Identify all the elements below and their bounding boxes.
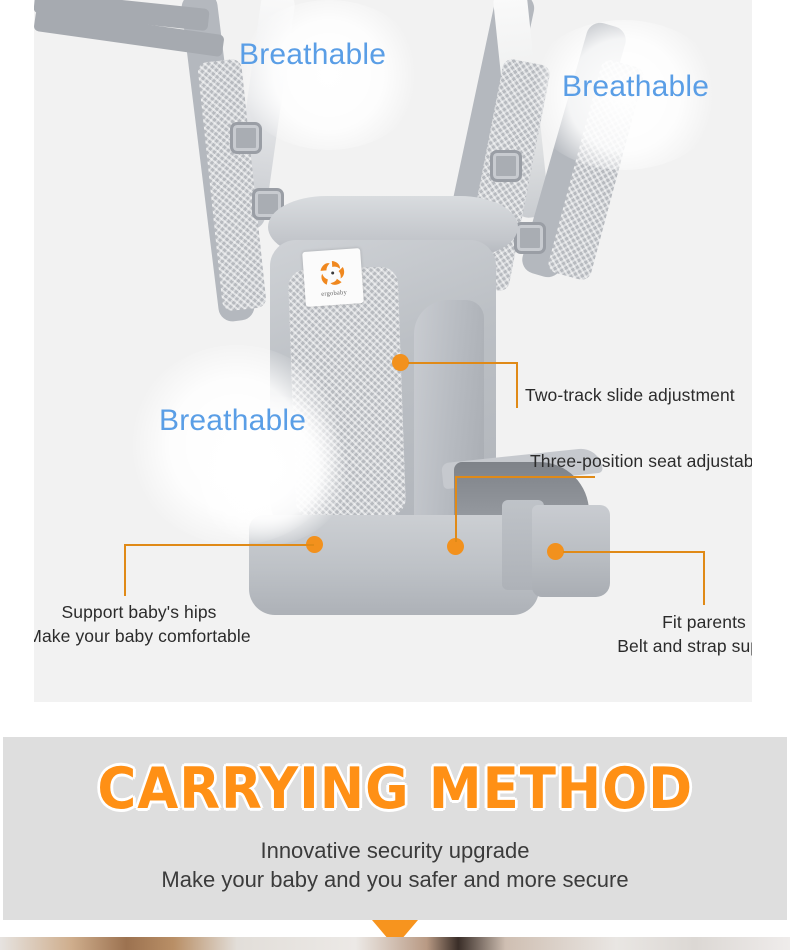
breathable-label-top-left: Breathable bbox=[239, 38, 386, 72]
callout-label-three-position: Three-position seat adjustable bbox=[530, 449, 752, 473]
slider-buckle bbox=[514, 222, 546, 254]
callout-label-support-hips-line1: Support baby's hips bbox=[34, 600, 264, 624]
callout-leader-three-position-v bbox=[455, 476, 457, 542]
callout-leader-two-track-v bbox=[516, 362, 518, 408]
banner-subtitle-line2: Make your baby and you safer and more se… bbox=[161, 865, 628, 894]
callout-dot-fit-parents bbox=[547, 543, 564, 560]
breathable-label-top-right: Breathable bbox=[562, 70, 709, 104]
breathable-label-mid-left: Breathable bbox=[159, 404, 306, 438]
product-photo-panel: ergobaby Breathable Breathable Breathabl… bbox=[34, 0, 752, 702]
ergobaby-wordmark: ergobaby bbox=[321, 289, 347, 298]
callout-label-support-hips-line2: Make your baby comfortable bbox=[34, 624, 264, 648]
callout-leader-two-track-h bbox=[408, 362, 518, 364]
ergobaby-pinwheel-icon bbox=[317, 257, 349, 289]
carrier-product-image: ergobaby Breathable Breathable Breathabl… bbox=[34, 0, 752, 702]
callout-leader-fit-parents-v bbox=[703, 551, 705, 605]
callout-leader-three-position-h bbox=[455, 476, 595, 478]
callout-label-fit-parents-line1: Fit parents bbox=[584, 610, 752, 634]
callout-leader-support-hips-v bbox=[124, 544, 126, 596]
callout-label-two-track: Two-track slide adjustment bbox=[525, 383, 735, 407]
ergobaby-logo: ergobaby bbox=[302, 248, 364, 307]
product-infographic-page: ergobaby Breathable Breathable Breathabl… bbox=[0, 0, 790, 950]
callout-label-fit-parents-line2: Belt and strap support bbox=[584, 634, 752, 658]
banner-subtitle: Innovative security upgrade Make your ba… bbox=[161, 836, 628, 894]
slider-buckle bbox=[230, 122, 262, 154]
carrying-method-banner: CARRYING METHOD Innovative security upgr… bbox=[3, 737, 787, 920]
callout-leader-fit-parents-h bbox=[563, 551, 705, 553]
callout-label-fit-parents: Fit parents Belt and strap support bbox=[584, 610, 752, 658]
callout-dot-two-track bbox=[392, 354, 409, 371]
banner-subtitle-line1: Innovative security upgrade bbox=[161, 836, 628, 865]
callout-leader-support-hips-h bbox=[124, 544, 314, 546]
airflow-glow bbox=[234, 0, 424, 150]
callout-label-support-hips: Support baby's hips Make your baby comfo… bbox=[34, 600, 264, 648]
slider-buckle bbox=[490, 150, 522, 182]
banner-title: CARRYING METHOD bbox=[97, 761, 693, 818]
next-section-photo-strip bbox=[0, 937, 790, 950]
